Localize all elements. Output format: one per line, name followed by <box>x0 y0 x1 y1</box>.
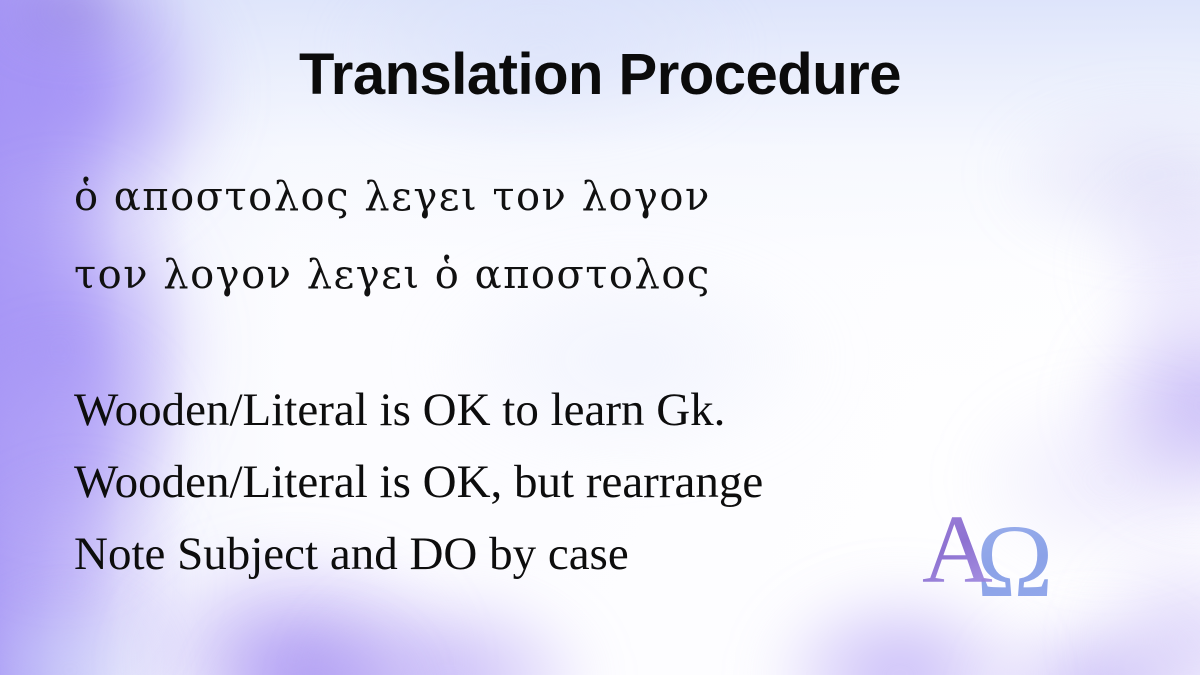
greek-line-2: τον λογον λεγει ὁ αποστολος <box>74 236 711 314</box>
presentation-slide: Translation Procedure ὁ αποστολος λεγει … <box>0 0 1200 675</box>
slide-title: Translation Procedure <box>0 46 1200 104</box>
english-line-1: Wooden/Literal is OK to learn Gk. <box>74 374 763 446</box>
alpha-omega-icon: Ω Α <box>920 496 1070 606</box>
alpha-omega-logo: Ω Α <box>920 496 1070 606</box>
english-line-3: Note Subject and DO by case <box>74 518 763 590</box>
greek-line-1: ὁ αποστολος λεγει τον λογον <box>74 158 711 236</box>
alpha-glyph: Α <box>922 496 993 604</box>
english-notes-block: Wooden/Literal is OK to learn Gk. Wooden… <box>74 374 763 590</box>
english-line-2: Wooden/Literal is OK, but rearrange <box>74 446 763 518</box>
greek-example-block: ὁ αποστολος λεγει τον λογον τον λογον λε… <box>74 158 711 314</box>
